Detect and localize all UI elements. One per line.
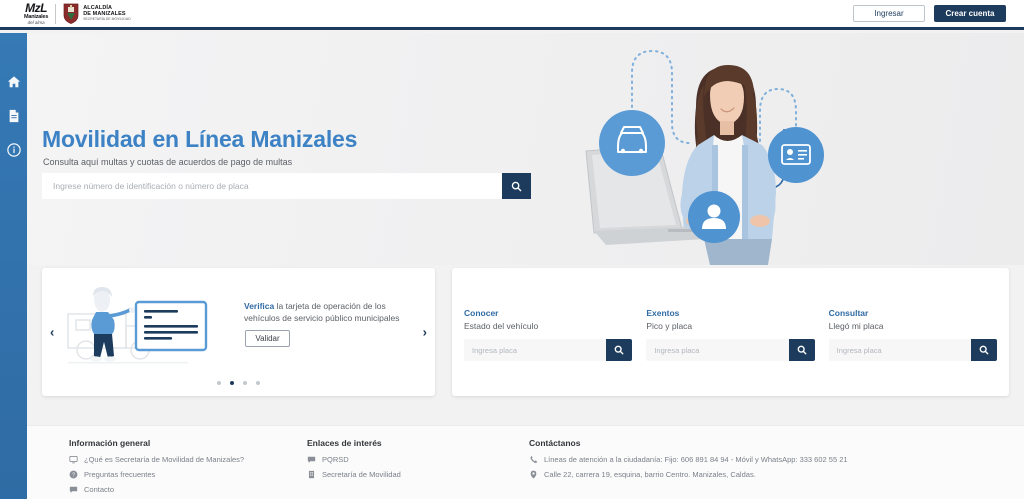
top-header: MzL Manizales del alma ALCALDÍA DE MANIZ… bbox=[0, 0, 1024, 30]
footer-link[interactable]: Secretaría de Movilidad bbox=[307, 470, 529, 479]
plate-search-button-consultar[interactable] bbox=[971, 339, 997, 361]
footer-link-label: Secretaría de Movilidad bbox=[322, 470, 401, 479]
consult-search-group bbox=[646, 339, 814, 361]
consult-subtitle: Pico y placa bbox=[646, 321, 814, 331]
badge-car bbox=[599, 110, 665, 176]
carousel-illustration bbox=[64, 284, 214, 366]
footer-link-label: ¿Qué es Secretaría de Movilidad de Maniz… bbox=[84, 455, 244, 464]
alcaldia-logo: ALCALDÍA DE MANIZALES SECRETARÍA DE MOVI… bbox=[63, 3, 131, 24]
mzl-logo: MzL Manizales del alma bbox=[24, 2, 48, 26]
consult-subtitle: Llegó mi placa bbox=[829, 321, 997, 331]
footer-link[interactable]: PQRSD bbox=[307, 455, 529, 464]
page-footer: Información general ¿Qué es Secretaría d… bbox=[27, 425, 1024, 499]
carousel-dot[interactable] bbox=[217, 381, 221, 385]
alcaldia-text: ALCALDÍA DE MANIZALES SECRETARÍA DE MOVI… bbox=[83, 5, 131, 22]
hero-illustration bbox=[564, 33, 924, 265]
page-title: Movilidad en Línea Manizales bbox=[42, 126, 357, 153]
footer-contact-address-label: Calle 22, carrera 19, esquina, barrio Ce… bbox=[544, 470, 756, 479]
consult-card: Conocer Estado del vehículo Exentos Pico… bbox=[452, 268, 1009, 396]
footer-contact-phone-label: Líneas de atención a la ciudadanía: Fijo… bbox=[544, 455, 848, 464]
validar-button[interactable]: Validar bbox=[245, 330, 290, 347]
plate-input-conocer[interactable] bbox=[464, 339, 606, 361]
location-icon bbox=[529, 470, 538, 479]
footer-contact-address: Calle 22, carrera 19, esquina, barrio Ce… bbox=[529, 470, 1024, 479]
page-subtitle: Consulta aquí multas y cuotas de acuerdo… bbox=[43, 157, 292, 167]
footer-link[interactable]: ? Preguntas frecuentes bbox=[69, 470, 307, 479]
carousel-dot[interactable] bbox=[230, 381, 234, 385]
footer-heading: Enlaces de interés bbox=[307, 438, 529, 448]
consult-subtitle: Estado del vehículo bbox=[464, 321, 632, 331]
mzl-logo-tagline: del alma bbox=[28, 21, 45, 26]
plate-input-exentos[interactable] bbox=[646, 339, 788, 361]
carousel-dots bbox=[42, 381, 435, 385]
consult-column-exentos: Exentos Pico y placa bbox=[646, 308, 814, 396]
question-circle-icon: ? bbox=[69, 470, 78, 479]
header-actions: Ingresar Crear cuenta bbox=[853, 5, 1006, 22]
consult-search-group bbox=[829, 339, 997, 361]
page-root: MzL Manizales del alma ALCALDÍA DE MANIZ… bbox=[0, 0, 1024, 499]
footer-column-links: Enlaces de interés PQRSD Secretaría de M… bbox=[307, 438, 529, 499]
footer-column-contact: Contáctanos Líneas de atención a la ciud… bbox=[529, 438, 1024, 499]
signup-button[interactable]: Crear cuenta bbox=[934, 5, 1006, 22]
badge-id bbox=[768, 127, 824, 183]
footer-contact-phone: Líneas de atención a la ciudadanía: Fijo… bbox=[529, 455, 1024, 464]
hero-search-group bbox=[42, 173, 531, 199]
alcaldia-line3: SECRETARÍA DE MOVILIDAD bbox=[83, 18, 131, 22]
carousel-next-icon[interactable]: › bbox=[423, 325, 427, 340]
mzl-logo-main: MzL bbox=[25, 2, 47, 14]
consult-column-consultar: Consultar Llegó mi placa bbox=[829, 308, 997, 396]
consult-search-group bbox=[464, 339, 632, 361]
carousel-dot[interactable] bbox=[256, 381, 260, 385]
building-icon bbox=[307, 470, 316, 479]
carousel-text-bold: Verifica bbox=[244, 301, 274, 311]
svg-text:?: ? bbox=[72, 472, 75, 478]
search-button[interactable] bbox=[502, 173, 531, 199]
carousel-dot[interactable] bbox=[243, 381, 247, 385]
footer-link-label: Contacto bbox=[84, 485, 114, 494]
consult-title: Conocer bbox=[464, 308, 632, 318]
plate-input-consultar[interactable] bbox=[829, 339, 971, 361]
footer-heading: Información general bbox=[69, 438, 307, 448]
badge-person bbox=[688, 191, 740, 243]
chat-icon bbox=[69, 485, 78, 494]
carousel-text: Verifica la tarjeta de operación de los … bbox=[244, 300, 416, 325]
carousel-prev-icon[interactable]: ‹ bbox=[50, 325, 54, 340]
consult-title: Consultar bbox=[829, 308, 997, 318]
footer-heading: Contáctanos bbox=[529, 438, 1024, 448]
hero-section: Movilidad en Línea Manizales Consulta aq… bbox=[27, 33, 1024, 265]
footer-column-info: Información general ¿Qué es Secretaría d… bbox=[69, 438, 307, 499]
monitor-icon bbox=[69, 455, 78, 464]
plate-search-button-conocer[interactable] bbox=[606, 339, 632, 361]
search-input[interactable] bbox=[42, 173, 502, 199]
coat-of-arms-icon bbox=[63, 3, 79, 24]
footer-link-label: PQRSD bbox=[322, 455, 349, 464]
phone-icon bbox=[529, 455, 538, 464]
consult-column-conocer: Conocer Estado del vehículo bbox=[464, 308, 632, 396]
chat-icon bbox=[307, 455, 316, 464]
footer-link[interactable]: ¿Qué es Secretaría de Movilidad de Maniz… bbox=[69, 455, 307, 464]
footer-link-label: Preguntas frecuentes bbox=[84, 470, 155, 479]
left-sidebar bbox=[0, 33, 27, 499]
plate-search-button-exentos[interactable] bbox=[789, 339, 815, 361]
consult-title: Exentos bbox=[646, 308, 814, 318]
brand-divider bbox=[55, 4, 56, 24]
footer-link[interactable]: Contacto bbox=[69, 485, 307, 494]
login-button[interactable]: Ingresar bbox=[853, 5, 925, 22]
sidebar-item-documents[interactable] bbox=[7, 109, 21, 123]
sidebar-item-info[interactable] bbox=[7, 143, 21, 157]
carousel-card: ‹ › bbox=[42, 268, 435, 396]
sidebar-item-home[interactable] bbox=[7, 75, 21, 89]
brand-logos[interactable]: MzL Manizales del alma ALCALDÍA DE MANIZ… bbox=[24, 0, 131, 29]
